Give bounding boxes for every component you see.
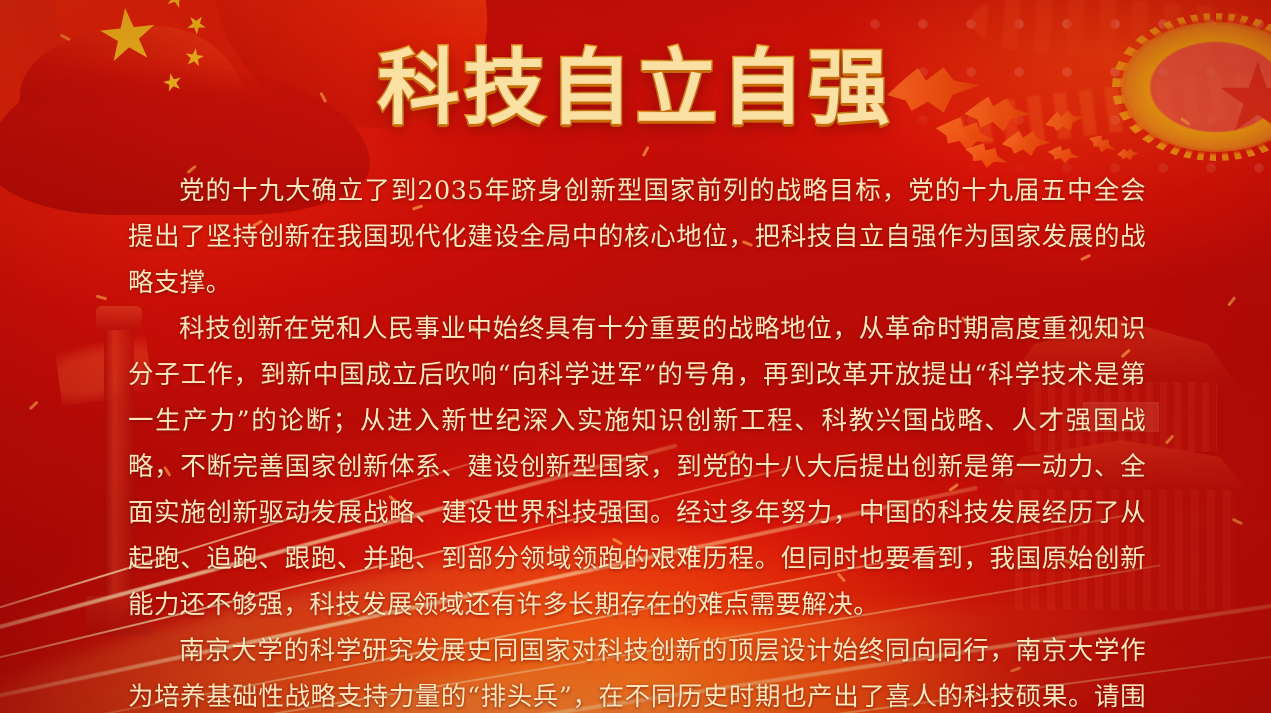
paragraph: 南京大学的科学研究发展史同国家对科技创新的顶层设计始终同向同行，南京大学作为培养… xyxy=(128,628,1146,713)
paragraph: 科技创新在党和人民事业中始终具有十分重要的战略地位，从革命时期高度重视知识分子工… xyxy=(128,306,1146,628)
body-text-block: 党的十九大确立了到2035年跻身创新型国家前列的战略目标，党的十九届五中全会提出… xyxy=(128,168,1146,713)
paragraph: 党的十九大确立了到2035年跻身创新型国家前列的战略目标，党的十九届五中全会提出… xyxy=(128,168,1146,306)
slide-canvas: 科技自立自强 党的十九大确立了到2035年跻身创新型国家前列的战略目标，党的十九… xyxy=(0,0,1271,713)
page-title: 科技自立自强 xyxy=(0,48,1271,130)
